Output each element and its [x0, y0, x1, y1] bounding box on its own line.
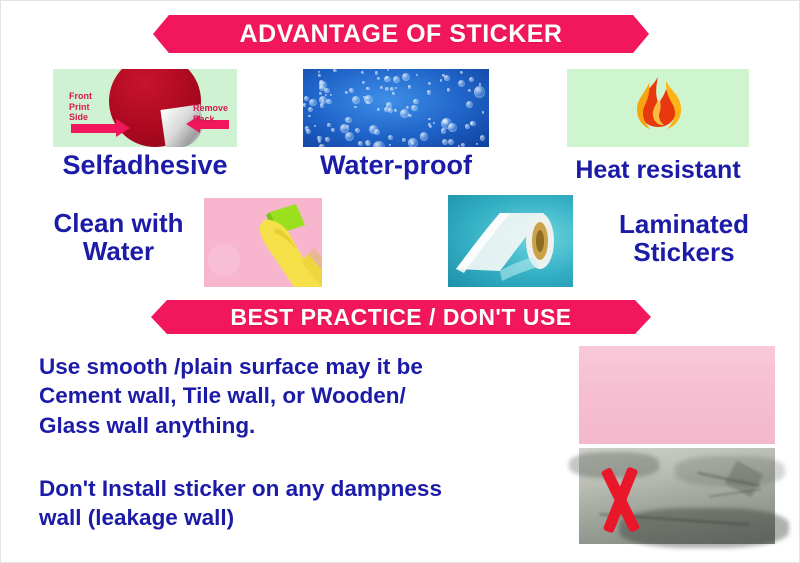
water-droplet	[325, 137, 330, 142]
water-droplet	[361, 71, 364, 74]
water-droplet	[318, 74, 321, 77]
water-droplet	[333, 69, 336, 72]
water-droplet	[325, 94, 327, 96]
water-droplet	[441, 128, 446, 133]
water-droplet	[388, 135, 393, 140]
caption-laminated-stickers: Laminated Stickers	[584, 210, 784, 266]
caption-clean-line1: Clean with	[31, 209, 206, 237]
water-droplet	[469, 77, 474, 82]
water-droplet	[482, 111, 484, 113]
water-droplet	[428, 118, 430, 120]
water-droplet	[448, 123, 457, 132]
laminate-roll-image	[448, 195, 573, 287]
water-droplet	[314, 125, 316, 127]
water-droplet	[413, 99, 418, 104]
banner-advantage-of-sticker: ADVANTAGE OF STICKER	[153, 15, 649, 53]
water-droplet	[345, 132, 354, 141]
water-droplet	[308, 107, 313, 112]
laminated-stickers-image-tile	[448, 195, 573, 287]
water-droplet	[308, 115, 311, 118]
selfadhesive-image-tile: Front Print Side Remove Back	[53, 69, 237, 147]
water-droplet	[408, 138, 418, 147]
water-droplet	[364, 95, 373, 104]
paragraph1-line1: Use smooth /plain surface may it be	[39, 352, 549, 381]
water-droplet	[427, 90, 432, 95]
water-droplet	[387, 69, 389, 71]
remove-back-label: Remove Back	[193, 103, 228, 124]
water-droplet	[319, 144, 324, 147]
water-droplet	[395, 87, 398, 90]
water-droplet	[448, 139, 454, 145]
water-droplet	[390, 87, 395, 92]
water-droplet	[388, 108, 393, 113]
caption-clean-line2: Water	[31, 237, 206, 265]
water-droplet	[466, 101, 473, 108]
water-droplet	[340, 124, 348, 132]
water-droplet	[374, 129, 380, 135]
water-droplet	[352, 96, 359, 103]
water-droplet	[474, 86, 485, 97]
water-droplet	[327, 123, 331, 127]
water-droplet	[354, 106, 356, 108]
water-droplet	[384, 76, 391, 83]
banner-best-practice-label: BEST PRACTICE / DON'T USE	[230, 304, 571, 331]
water-droplet	[433, 122, 435, 124]
water-droplet	[442, 139, 448, 145]
water-droplet	[380, 86, 383, 89]
paragraph2-line2: wall (leakage wall)	[39, 503, 549, 532]
water-droplet	[416, 74, 418, 76]
water-droplet	[465, 124, 470, 129]
label-front-line3: Side	[69, 112, 92, 123]
water-droplet	[345, 91, 347, 93]
banner-advantage-label: ADVANTAGE OF STICKER	[240, 20, 563, 49]
water-droplet	[470, 122, 473, 125]
front-print-arrow-icon	[71, 124, 117, 133]
water-droplet	[468, 89, 471, 92]
water-droplet	[480, 135, 485, 140]
water-droplet	[375, 71, 378, 74]
gloved-hand-sponge-image	[204, 198, 322, 287]
smooth-pink-wall-image	[579, 346, 775, 444]
water-droplet	[303, 103, 306, 106]
label-remove-line1: Remove	[193, 103, 228, 114]
paragraph1-line3: Glass wall anything.	[39, 411, 549, 440]
caption-lam-line1: Laminated	[584, 210, 784, 238]
water-droplet	[458, 145, 460, 147]
caption-water-proof: Water-proof	[293, 151, 499, 180]
water-droplet	[331, 128, 335, 132]
label-front-line1: Front	[69, 91, 92, 102]
waterproof-image-tile	[303, 69, 489, 147]
water-droplet	[394, 109, 396, 111]
water-droplet	[402, 73, 410, 81]
water-droplet	[319, 80, 324, 85]
water-droplet	[411, 105, 418, 112]
water-droplet	[330, 94, 332, 96]
water-droplet	[309, 99, 317, 107]
water-droplet	[318, 71, 320, 73]
best-practice-paragraph: Use smooth /plain surface may it be Ceme…	[39, 352, 549, 440]
label-remove-line2: Back	[193, 114, 228, 125]
damp-damaged-wall-image	[579, 448, 775, 544]
infographic-page: ADVANTAGE OF STICKER Front Print Side Re…	[0, 0, 800, 563]
water-droplet	[349, 88, 355, 94]
water-droplet	[366, 87, 370, 91]
water-droplet	[362, 81, 365, 84]
water-droplet	[461, 143, 465, 147]
water-droplet	[402, 138, 406, 142]
caption-clean-with-water: Clean with Water	[31, 209, 206, 265]
water-droplet	[373, 141, 385, 147]
flame-icon	[567, 69, 749, 147]
water-droplet	[345, 117, 351, 123]
water-droplet	[393, 76, 400, 83]
clean-with-water-image-tile	[204, 198, 322, 287]
water-droplet	[377, 108, 380, 111]
water-droplet	[460, 71, 463, 74]
water-droplet	[377, 77, 380, 80]
water-droplet	[318, 139, 321, 142]
dont-use-paragraph: Don't Install sticker on any dampness wa…	[39, 474, 549, 533]
caption-heat-resistant: Heat resistant	[549, 157, 767, 184]
caption-selfadhesive: Selfadhesive	[23, 151, 267, 180]
paragraph2-line1: Don't Install sticker on any dampness	[39, 474, 549, 503]
water-droplet	[355, 128, 360, 133]
banner-best-practice: BEST PRACTICE / DON'T USE	[151, 300, 651, 334]
water-droplet	[420, 132, 428, 140]
water-droplet	[358, 141, 363, 146]
water-droplet	[408, 85, 412, 89]
water-droplet	[444, 75, 450, 81]
heat-resistant-image-tile	[567, 69, 749, 147]
water-droplet	[385, 87, 389, 91]
water-droplet	[392, 92, 395, 95]
red-cross-mark-icon	[595, 470, 647, 532]
water-droplet	[458, 80, 465, 87]
water-droplet	[389, 144, 391, 146]
paragraph1-line2: Cement wall, Tile wall, or Wooden/	[39, 381, 549, 410]
water-droplet	[476, 143, 478, 145]
caption-lam-line2: Stickers	[584, 238, 784, 266]
water-droplet	[319, 92, 322, 95]
water-droplet	[428, 82, 431, 85]
front-print-side-label: Front Print Side	[69, 91, 92, 123]
water-droplet	[440, 79, 443, 82]
water-droplet	[408, 114, 412, 118]
water-droplet	[447, 88, 450, 91]
label-front-line2: Print	[69, 102, 92, 113]
water-droplet	[320, 103, 325, 108]
water-droplet	[306, 129, 311, 134]
water-droplet	[319, 85, 325, 91]
